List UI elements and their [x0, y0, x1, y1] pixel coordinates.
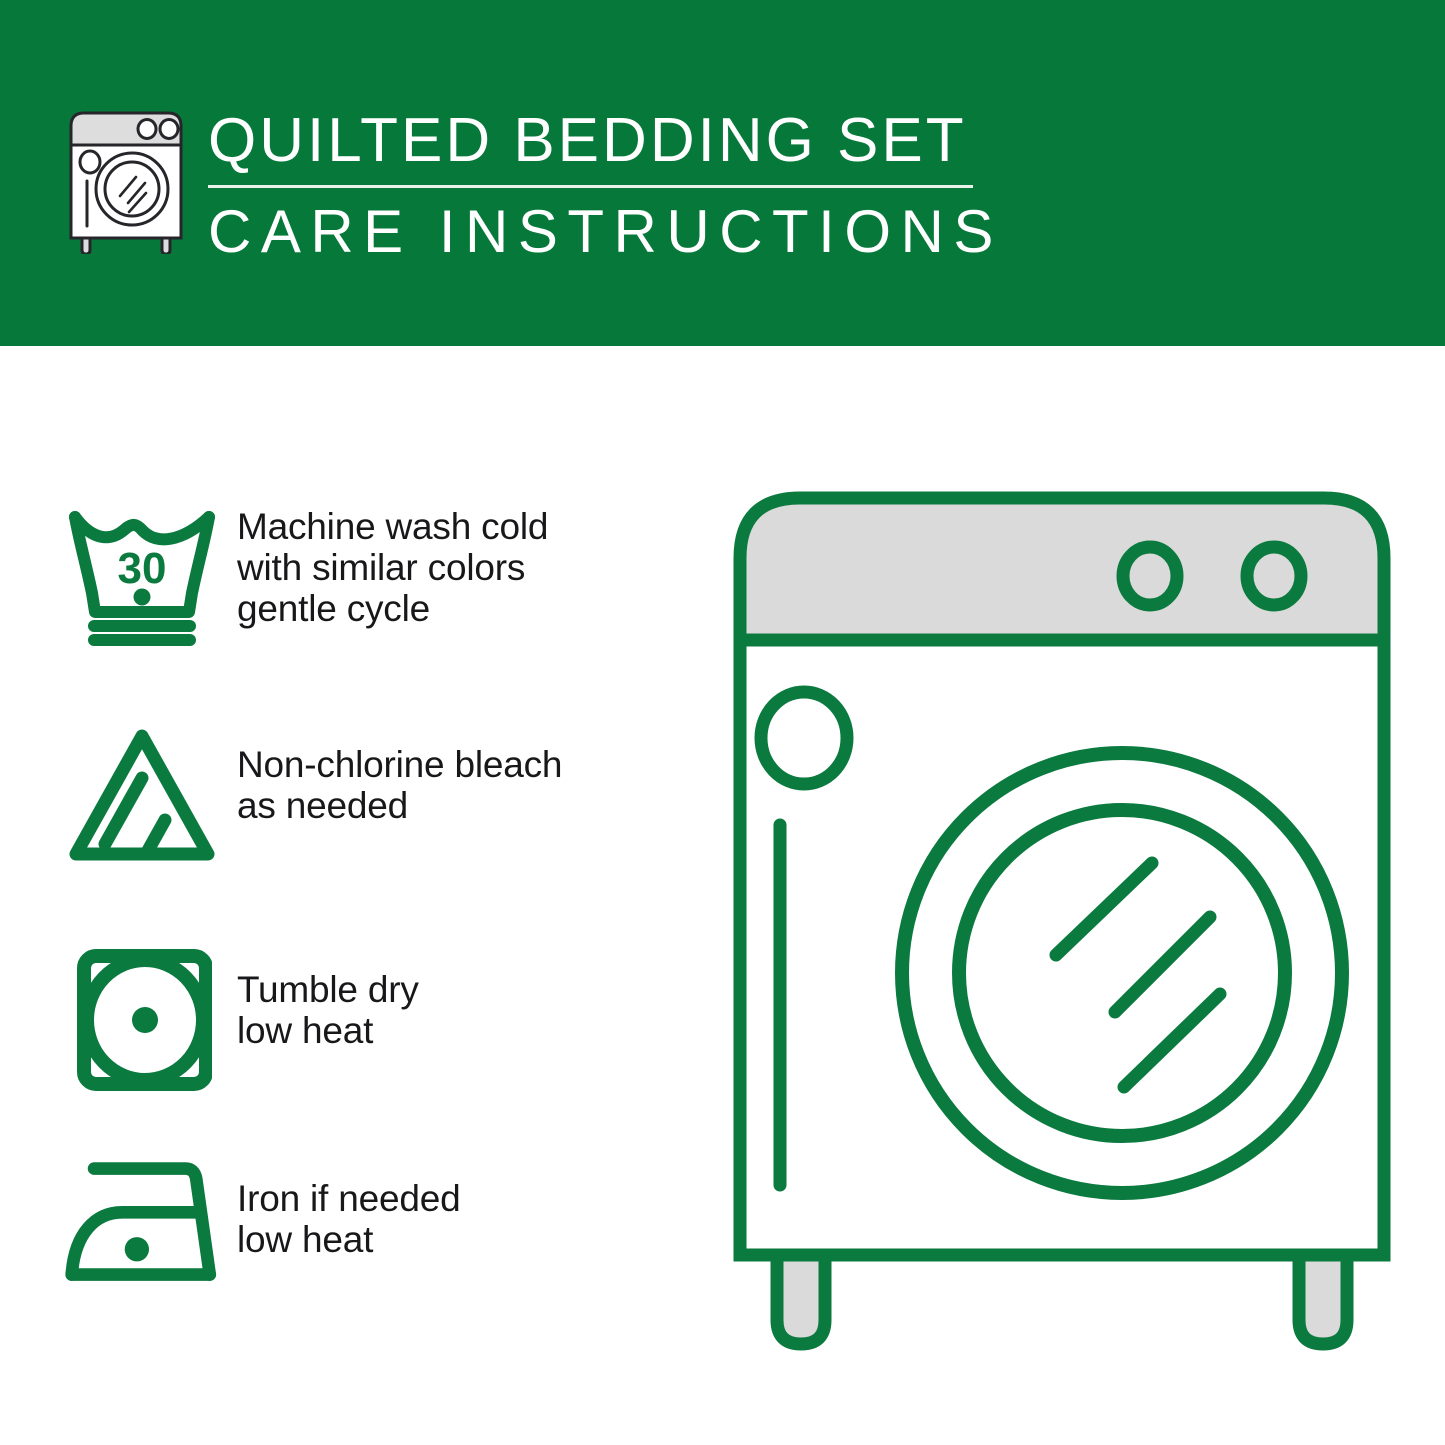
leg-left — [777, 1255, 825, 1344]
detergent-dispenser-knob — [761, 692, 847, 784]
care-label-bleach: Non-chlorine bleach as needed — [237, 722, 562, 826]
iron-low-heat-icon — [62, 1150, 237, 1298]
care-label-tumble-dry: Tumble dry low heat — [237, 945, 419, 1051]
non-chlorine-bleach-triangle-icon — [62, 722, 237, 870]
washing-machine-icon — [62, 104, 190, 254]
page-subtitle: CARE INSTRUCTIONS — [208, 197, 998, 267]
care-row-bleach: Non-chlorine bleach as needed — [62, 722, 562, 870]
title-divider — [208, 185, 973, 188]
wash-tub-30-gentle-icon: 30 — [62, 500, 237, 648]
wash-temperature-value: 30 — [118, 544, 167, 593]
header-title-block: QUILTED BEDDING SET CARE INSTRUCTIONS — [208, 104, 998, 267]
leg-right — [1299, 1255, 1347, 1344]
knob-right — [1247, 547, 1301, 605]
care-row-tumble-dry: Tumble dry low heat — [62, 945, 419, 1095]
care-row-machine-wash: 30 Machine wash cold with similar colors… — [62, 500, 548, 648]
care-instructions-infographic: QUILTED BEDDING SET CARE INSTRUCTIONS 30 — [0, 0, 1445, 1445]
care-label-iron: Iron if needed low heat — [237, 1150, 460, 1260]
tumble-dry-low-icon — [62, 945, 237, 1095]
knob-left — [1123, 547, 1177, 605]
page-title: QUILTED BEDDING SET — [208, 104, 998, 178]
header-banner: QUILTED BEDDING SET CARE INSTRUCTIONS — [0, 0, 1445, 346]
care-row-iron: Iron if needed low heat — [62, 1150, 460, 1298]
front-load-washing-machine-illustration — [722, 480, 1402, 1360]
care-label-machine-wash: Machine wash cold with similar colors ge… — [237, 500, 548, 629]
